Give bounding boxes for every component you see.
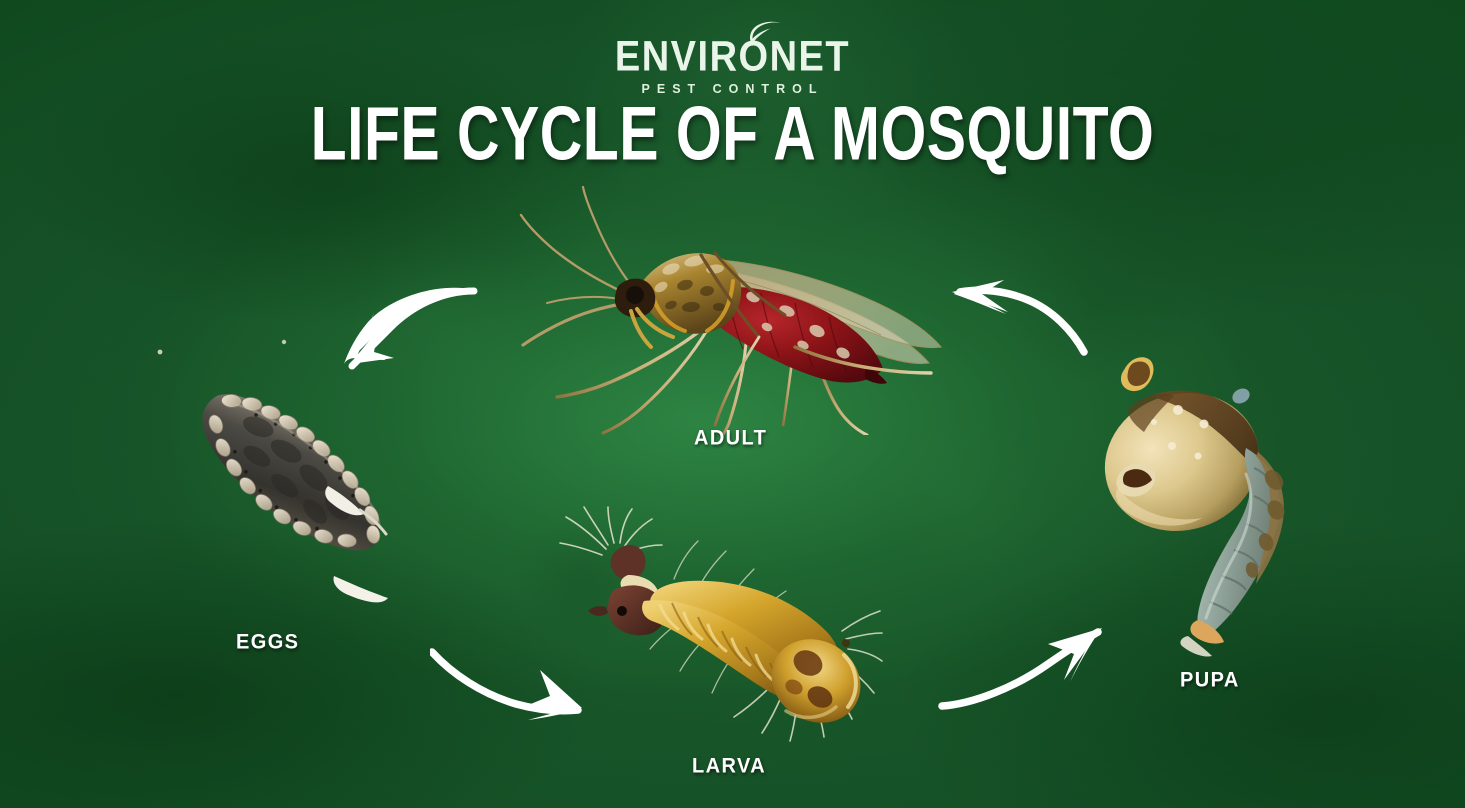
brand-wordmark: ENVIRONET (615, 36, 850, 79)
stage-label-adult: ADULT (694, 426, 767, 451)
leaf-icon (748, 21, 782, 43)
page-title: LIFE CYCLE OF A MOSQUITO (37, 97, 1429, 173)
specimen-adult-mosquito (495, 185, 985, 435)
arrow-eggs-to-larva-icon (430, 648, 585, 724)
specimen-pupa (1078, 352, 1333, 657)
brand-wordmark-text: ENVIRONET (615, 33, 850, 80)
stage-label-larva: LARVA (692, 754, 766, 779)
mosquito-life-cycle-infographic: ENVIRONET PEST CONTROL LIFE CYCLE OF A M… (0, 0, 1465, 808)
arrow-pupa-to-adult-icon (948, 278, 1088, 356)
arrow-larva-to-pupa-icon (938, 626, 1106, 710)
stage-label-eggs: EGGS (236, 630, 299, 655)
specimen-larva (558, 505, 883, 750)
specimen-eggs-raft (138, 328, 438, 623)
arrow-adult-to-eggs-icon (330, 278, 478, 370)
brand-logo: ENVIRONET PEST CONTROL (0, 38, 1465, 96)
stage-label-pupa: PUPA (1180, 668, 1240, 693)
